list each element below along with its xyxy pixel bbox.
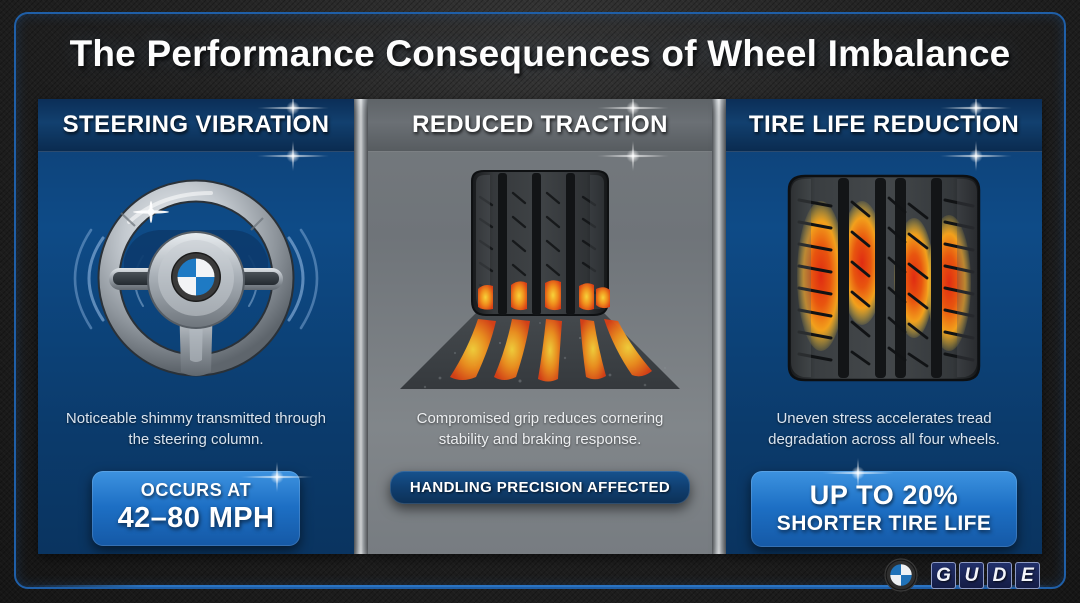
- bmw-roundel-icon: [175, 256, 217, 298]
- gude-letter: D: [987, 562, 1012, 589]
- page-title: The Performance Consequences of Wheel Im…: [0, 33, 1080, 75]
- badge-line-2: 42–80 MPH: [118, 502, 275, 535]
- panel-heading: STEERING VIBRATION: [63, 111, 330, 139]
- panel-heading: TIRE LIFE REDUCTION: [749, 111, 1019, 139]
- badge-handling-precision[interactable]: HANDLING PRECISION AFFECTED: [390, 471, 690, 504]
- panel-header-steering-vibration: STEERING VIBRATION: [38, 99, 354, 152]
- badge-line-2: SHORTER TIRE LIFE: [777, 512, 991, 536]
- tire-contact-patch-heat-icon: [380, 153, 700, 403]
- badge-line-1: UP TO 20%: [777, 480, 991, 511]
- panel-heading: REDUCED TRACTION: [412, 111, 668, 139]
- panel-reduced-traction[interactable]: REDUCED TRACTION: [368, 99, 712, 554]
- panel-header-tire-life-reduction: TIRE LIFE REDUCTION: [726, 99, 1042, 152]
- brand-lockup: G U D E: [884, 558, 1040, 592]
- gude-letter: U: [959, 562, 984, 589]
- panel-tire-life-reduction[interactable]: TIRE LIFE REDUCTION: [726, 99, 1042, 554]
- steering-wheel-vibrating-icon: [51, 160, 341, 396]
- artwork-tire-contact-patch: [368, 152, 712, 404]
- panel-description: Uneven stress accelerates tread degradat…: [726, 408, 1042, 451]
- panels-container: STEERING VIBRATION: [38, 99, 1042, 554]
- badge-occurs-at[interactable]: OCCURS AT 42–80 MPH: [92, 471, 301, 546]
- panel-divider-left: [354, 99, 368, 554]
- artwork-tire-tread-wear: [726, 152, 1042, 404]
- gude-letter: G: [931, 562, 956, 589]
- badge-wrap-traction: HANDLING PRECISION AFFECTED: [368, 471, 712, 504]
- badge-up-to-20[interactable]: UP TO 20% SHORTER TIRE LIFE: [751, 471, 1017, 547]
- badge-wrap-tire-life: UP TO 20% SHORTER TIRE LIFE: [726, 471, 1042, 547]
- panel-steering-vibration[interactable]: STEERING VIBRATION: [38, 99, 354, 554]
- artwork-steering-wheel: [38, 152, 354, 404]
- panel-divider-right: [712, 99, 726, 554]
- badge-wrap-steering: OCCURS AT 42–80 MPH: [38, 471, 354, 546]
- gude-logo: G U D E: [931, 562, 1040, 589]
- gude-letter: E: [1015, 562, 1040, 589]
- panel-description: Noticeable shimmy transmitted through th…: [38, 408, 354, 451]
- tire-tread-wear-heat-icon: [759, 158, 1009, 398]
- panel-header-reduced-traction: REDUCED TRACTION: [368, 99, 712, 152]
- badge-line-1: OCCURS AT: [118, 480, 275, 501]
- bmw-roundel-icon: [884, 558, 918, 592]
- panel-description: Compromised grip reduces cornering stabi…: [368, 408, 712, 451]
